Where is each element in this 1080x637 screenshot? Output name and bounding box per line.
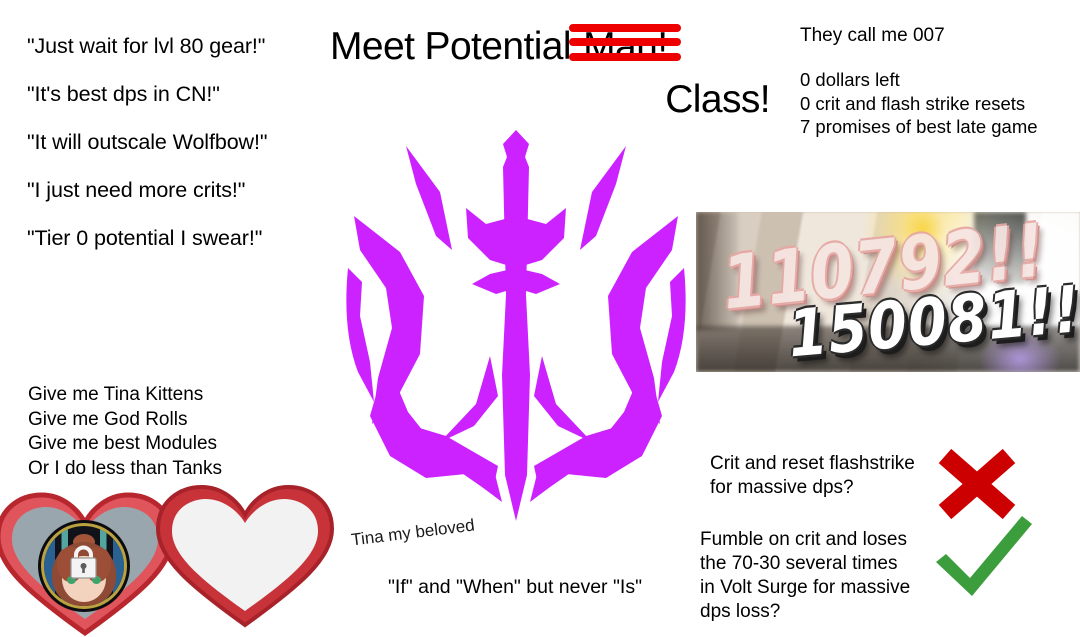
- qa-row: Fumble on crit and loses the 70-30 sever…: [700, 528, 950, 624]
- demand-line: Give me best Modules: [28, 432, 328, 457]
- stat-line: 0 dollars left: [800, 68, 1080, 92]
- title-line-1: Meet Potential Man!: [330, 18, 780, 76]
- qa-block: Crit and reset flashstrike for massive d…: [700, 452, 1080, 632]
- game-damage-thumbnail: 110792!! 150081!!: [696, 212, 1080, 372]
- title-struck-word-wrapper: Man!: [581, 18, 669, 76]
- quote-line: "Tier 0 potential I swear!": [27, 214, 357, 262]
- demand-line: Give me Tina Kittens: [28, 383, 328, 408]
- demand-line: Give me God Rolls: [28, 408, 328, 433]
- qa-line: in Volt Surge for massive: [700, 576, 950, 600]
- quote-line: "It will outscale Wolfbow!": [27, 118, 357, 166]
- qa-line: for massive dps?: [710, 476, 950, 500]
- qa-line: Fumble on crit and loses: [700, 528, 950, 552]
- strikethrough-bar: [569, 38, 681, 46]
- title-line-2: Class!: [330, 76, 780, 124]
- purple-sword-emblem: [340, 128, 692, 523]
- center-caption: "If" and "When" but never "Is": [388, 576, 642, 599]
- qa-line: the 70-30 several times: [700, 552, 950, 576]
- quote-line: "I just need more crits!": [27, 166, 357, 214]
- stat-line: 7 promises of best late game: [800, 115, 1080, 139]
- qa-line: dps loss?: [700, 600, 950, 624]
- title-block: Meet Potential Man! Class!: [330, 18, 780, 124]
- right-top-block: They call me 007 0 dollars left 0 crit a…: [800, 22, 1080, 139]
- quote-line: "It's best dps in CN!": [27, 70, 357, 118]
- left-demands-block: Give me Tina Kittens Give me God Rolls G…: [28, 383, 328, 481]
- green-check-icon: [930, 510, 1038, 602]
- qa-line: Crit and reset flashstrike: [710, 452, 950, 476]
- stat-line: 0 crit and flash strike resets: [800, 92, 1080, 116]
- heart-locket-photo: Tina my beloved: [0, 477, 340, 637]
- title-prefix: Meet Potential: [330, 25, 581, 68]
- headline-text: They call me 007: [800, 22, 1080, 49]
- quote-line: "Just wait for lvl 80 gear!": [27, 22, 357, 70]
- qa-row: Crit and reset flashstrike for massive d…: [710, 452, 950, 500]
- strikethrough-bar: [569, 53, 681, 61]
- left-quotes-block: "Just wait for lvl 80 gear!" "It's best …: [27, 22, 357, 262]
- meme-canvas: "Just wait for lvl 80 gear!" "It's best …: [0, 0, 1080, 637]
- strikethrough-bar: [569, 24, 681, 32]
- heart-note-right: Tina my beloved: [152, 477, 338, 629]
- stat-list: 0 dollars left 0 crit and flash strike r…: [800, 68, 1080, 139]
- lock-icon: [67, 544, 100, 580]
